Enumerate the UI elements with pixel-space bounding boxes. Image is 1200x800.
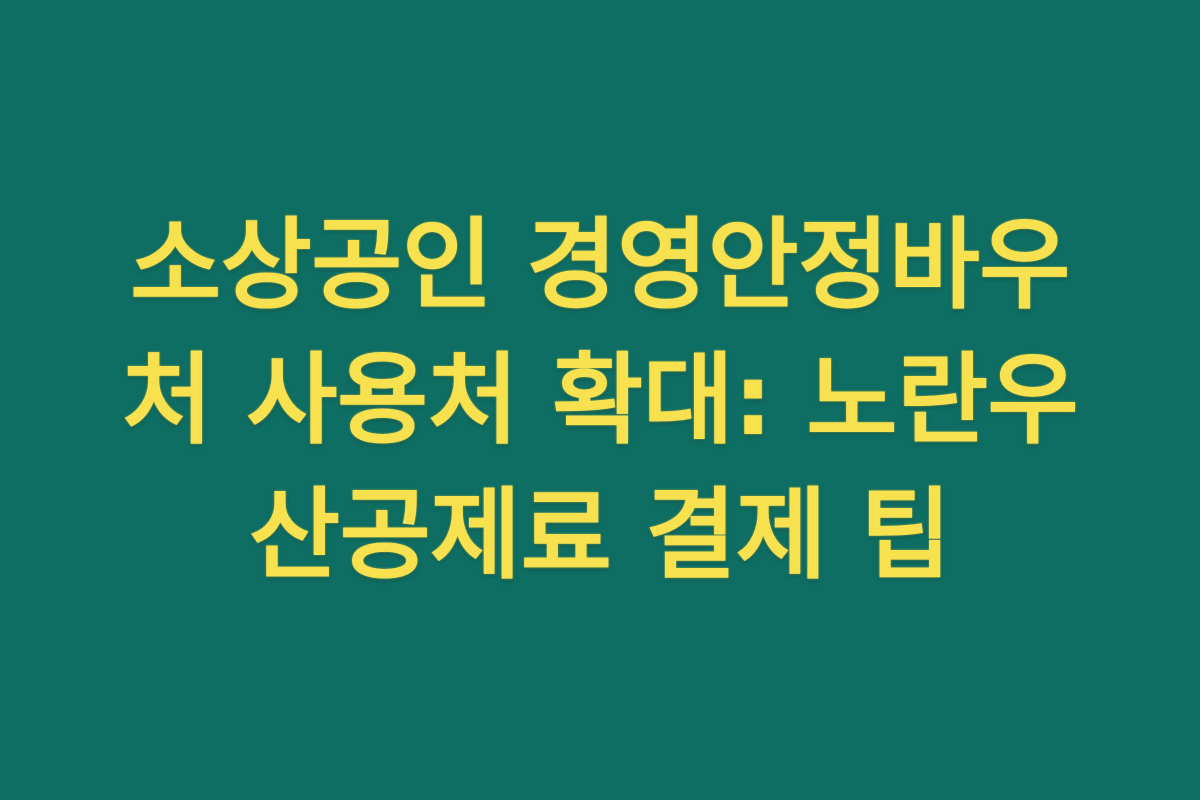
headline-block: 소상공인 경영안정바우 처 사용처 확대: 노란우 산공제료 결제 팁: [95, 198, 1105, 603]
page-title: 소상공인 경영안정바우 처 사용처 확대: 노란우 산공제료 결제 팁: [105, 198, 1095, 603]
thumbnail-card: 소상공인 경영안정바우 처 사용처 확대: 노란우 산공제료 결제 팁: [0, 0, 1200, 800]
